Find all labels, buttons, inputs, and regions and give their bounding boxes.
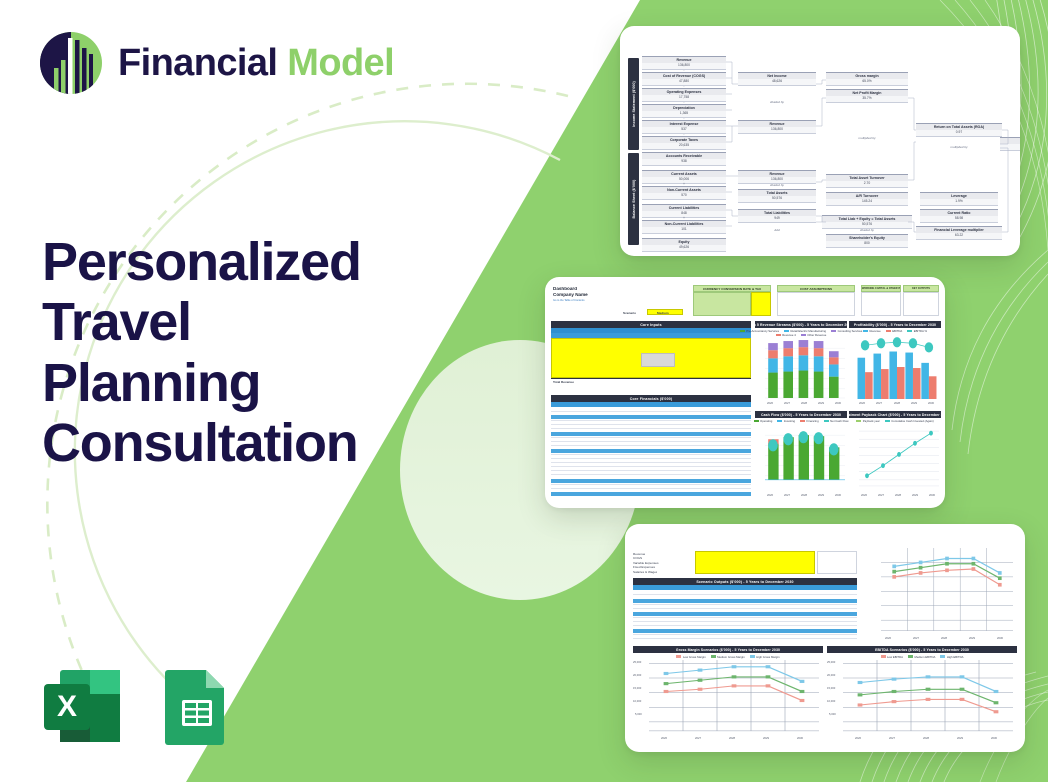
chart-legend-row2: Revenue 4 Other Revenue <box>755 333 847 337</box>
key-outputs-grid[interactable] <box>903 292 939 316</box>
brand-word-model: Model <box>287 42 394 84</box>
pie-chart-bars-logo-icon <box>38 30 104 96</box>
headline-line-4: Consultation <box>42 413 442 473</box>
hero-left-panel: Financial Model Personalized Travel Plan… <box>0 0 470 782</box>
chart-legend: Payback year Cumulative Cash Invested (A… <box>849 419 941 423</box>
supported-apps: X <box>38 662 240 750</box>
brand-wordmark: Financial Model <box>118 44 394 82</box>
headline-line-3: Planning <box>42 353 442 413</box>
scenario-outputs-title: Scenario Outputs ($'000) - 5 Years to De… <box>633 578 857 585</box>
currency-panel-labels <box>693 292 751 316</box>
scenario-outputs-rows[interactable] <box>633 590 857 642</box>
ebitda-scenarios-chart[interactable]: EBITDA Scenarios ($'000) - 5 Years to De… <box>827 646 1017 742</box>
gross-margin-scenarios-chart[interactable]: Gross Margin Scenarios ($'000) - 5 Years… <box>633 646 823 742</box>
core-financials-title: Core Financials ($'000) <box>551 395 751 402</box>
cost-panel-grid[interactable] <box>777 292 855 316</box>
core-inputs-total-label: Total Revenue <box>553 380 574 384</box>
microsoft-excel-icon[interactable]: X <box>38 662 126 750</box>
scenario-sheet: Revenue COGS Variable Expenses Fixed Exp… <box>625 524 1025 752</box>
financial-dashboard-card[interactable]: Dashboard Company Name Go to the Table o… <box>545 277 945 508</box>
dupont-tree: Income Statement ($'000) Balance Sheet (… <box>628 52 1014 248</box>
top-5-revenue-streams-chart[interactable]: Top 5 Revenue Streams ($'000) - 5 Years … <box>755 321 847 407</box>
scenario-analysis-card[interactable]: Revenue COGS Variable Expenses Fixed Exp… <box>625 524 1025 752</box>
dashboard-sheet: Dashboard Company Name Go to the Table o… <box>545 277 945 508</box>
brand-word-financial: Financial <box>118 42 277 84</box>
cash-flow-chart[interactable]: Cash Flow ($'000) - 5 Years to December … <box>755 411 847 499</box>
cost-panel-title: COST ASSUMPTIONS <box>779 287 853 291</box>
chart-plot-area <box>859 425 939 490</box>
chart-legend: Low EBITDA Medium EBITDA High EBITDA <box>827 655 1017 659</box>
investment-payback-chart[interactable]: Investment Payback Chart ($'000) - 5 Yea… <box>849 411 941 499</box>
core-inputs-blocked-cells <box>641 353 675 367</box>
working-capital-panel-title: WORKING CAPITAL & OTHER INPUTS <box>862 287 900 291</box>
headline-line-2: Travel <box>42 292 442 352</box>
currency-panel-title: CURRENCY CONVERSION RATE & TAX <box>695 287 769 291</box>
headline-line-1: Personalized <box>42 232 442 292</box>
dashboard-title: Dashboard <box>553 287 577 291</box>
chart-plot-area <box>649 660 819 732</box>
chart-plot-area <box>765 338 845 399</box>
currency-panel-values[interactable] <box>751 292 771 316</box>
dupont-connectors <box>628 52 1014 248</box>
chart-legend: Low Gross Margin Medium Gross Margin Hig… <box>633 655 823 659</box>
brand-logo[interactable]: Financial Model <box>38 30 394 96</box>
dupont-analysis-card[interactable]: Income Statement ($'000) Balance Sheet (… <box>620 26 1020 256</box>
core-financials-rows[interactable] <box>551 407 751 499</box>
ebitda-scenarios-chart-top[interactable]: 2026 2027 2028 2029 2030 <box>865 546 1017 642</box>
chart-legend: Operating Investing Financing Net Cash F… <box>755 419 847 423</box>
scenario-value: Medium <box>657 311 669 315</box>
dashboard-company-name: Company Name <box>553 293 588 297</box>
scenario-label: Scenario <box>623 311 636 315</box>
chart-plot-area <box>843 660 1013 732</box>
profitability-chart[interactable]: Profitability ($'000) - 5 Years to Decem… <box>849 321 941 407</box>
chart-legend: Revenue EBITDA EBITDA % <box>849 329 941 333</box>
core-inputs-title: Core Inputs <box>551 321 751 328</box>
working-capital-grid[interactable] <box>861 292 901 316</box>
key-outputs-panel-title: KEY OUTPUTS <box>904 287 938 291</box>
svg-text:X: X <box>57 690 77 723</box>
chart-plot-area <box>855 335 939 399</box>
chart-plot-area <box>765 425 845 490</box>
google-sheets-icon[interactable] <box>152 662 240 750</box>
core-inputs-total-divider <box>551 378 751 379</box>
scenario-assumption-inputs[interactable] <box>695 551 815 574</box>
chart-plot-area <box>881 548 1013 632</box>
page-title: Personalized Travel Planning Consultatio… <box>42 232 442 474</box>
dashboard-toc-link[interactable]: Go to the Table of Contents <box>553 299 585 303</box>
scenario-assumption-active <box>817 551 857 574</box>
